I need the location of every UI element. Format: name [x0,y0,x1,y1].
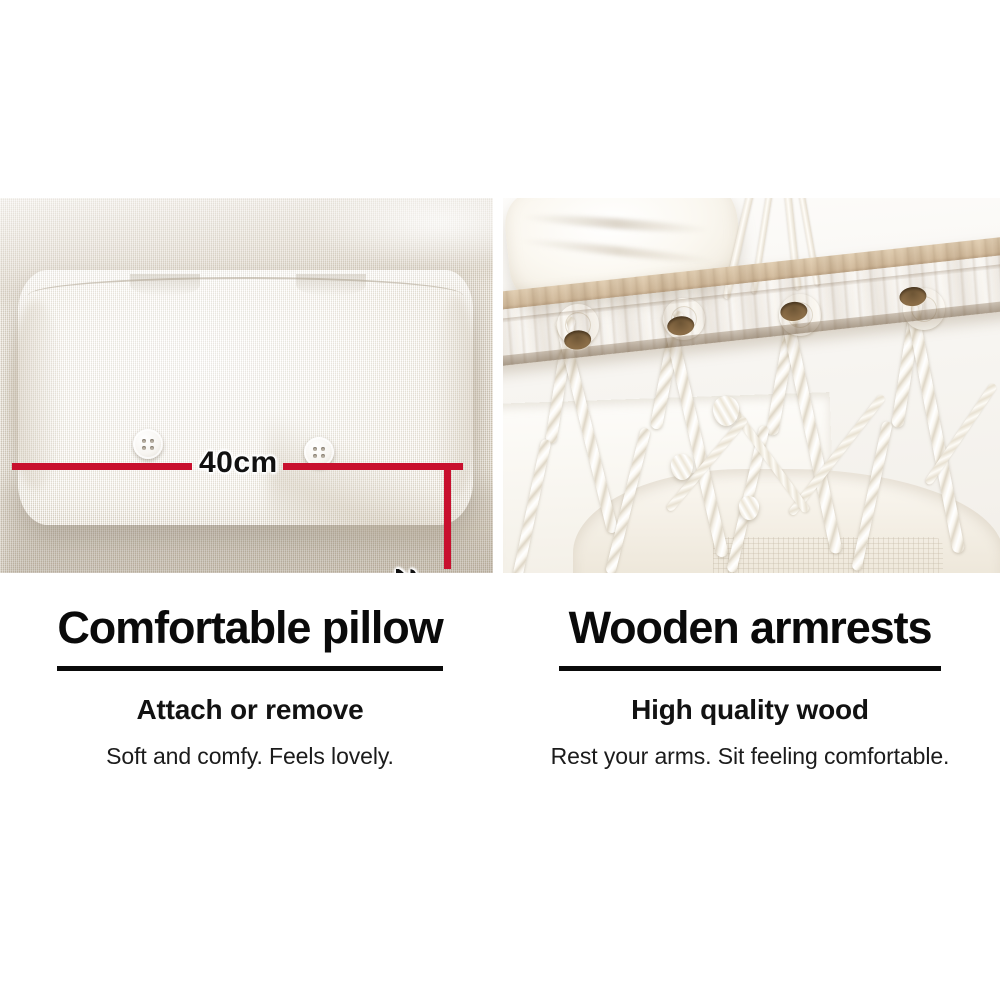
photo-band: 40cm 24cm [0,198,1000,573]
pillow-left-edge [10,300,62,490]
button-hole [313,447,317,451]
pillow-caption-column: Comfortable pillow Attach or remove Soft… [0,573,500,771]
width-dimension-line-left [12,463,192,470]
pillow-object [18,270,473,525]
armrest-body-text: Rest your arms. Sit feeling comfortable. [500,727,1000,771]
caption-area: Comfortable pillow Attach or remove Soft… [0,573,1000,1000]
armrest-photo [503,198,1000,573]
button-hole [313,454,317,458]
pillow-photo: 40cm 24cm [0,198,493,573]
cushion-highlight [300,198,493,268]
button-hole [321,454,325,458]
height-dimension-line-top [444,466,451,569]
width-dimension-line-right [283,463,463,470]
cushion-fold [518,236,718,266]
pillow-scene: 40cm 24cm [0,198,493,573]
pillow-button-icon [133,429,163,459]
cushion-fold [521,212,711,235]
armrest-scene [503,198,1000,573]
width-dimension-label: 40cm [199,448,278,478]
pillow-crease [268,420,488,540]
button-hole [142,446,146,450]
pillow-headline: Comfortable pillow [0,573,500,654]
button-hole [142,439,146,443]
pillow-body-text: Soft and comfy. Feels lovely. [0,727,500,771]
button-hole [150,446,154,450]
armrest-subhead: High quality wood [500,671,1000,727]
button-hole [321,447,325,451]
pillow-dimple [130,274,200,296]
button-hole [150,439,154,443]
armrest-headline: Wooden armrests [500,573,1000,654]
armrest-caption-column: Wooden armrests High quality wood Rest y… [500,573,1000,771]
pillow-subhead: Attach or remove [0,671,500,727]
pillow-dimple [296,274,366,296]
product-feature-poster: 40cm 24cm [0,0,1000,1000]
